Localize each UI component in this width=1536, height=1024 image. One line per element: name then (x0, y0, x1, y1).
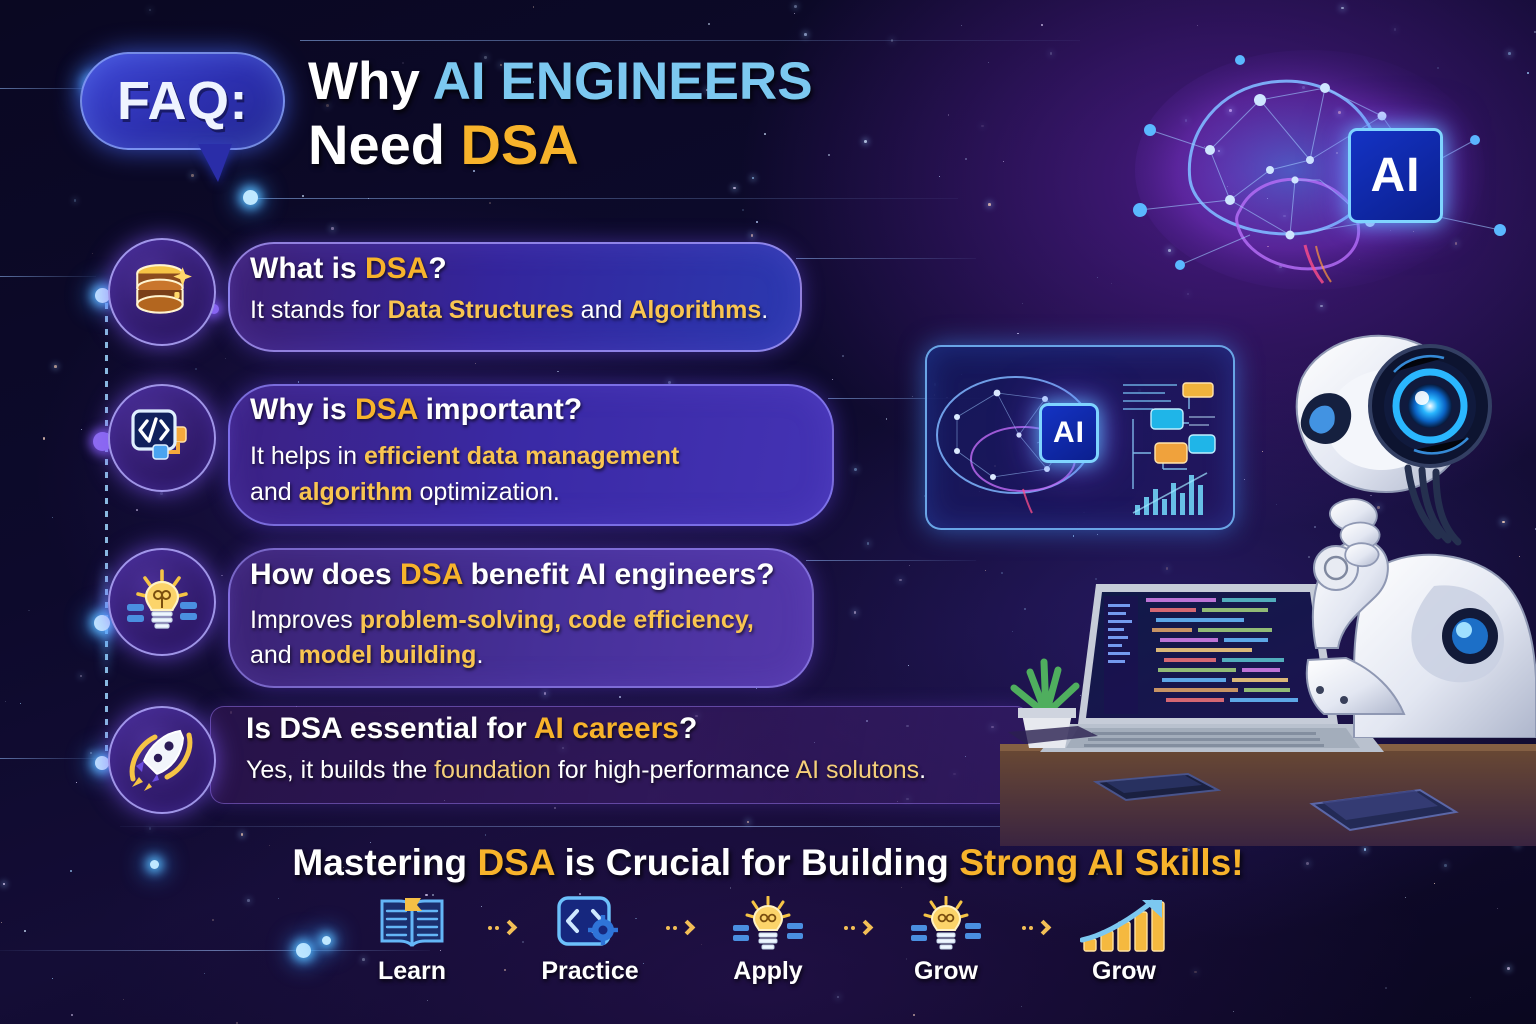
star (149, 827, 151, 829)
lightbulb-icon (731, 896, 805, 954)
text-run: Why (308, 52, 433, 111)
faq-answer-1-line-1: It stands for Data Structures and Algori… (250, 296, 768, 325)
text-run: Improves (250, 606, 360, 634)
star (191, 174, 194, 177)
text-run: optimization. (413, 478, 560, 506)
text-run: . (919, 756, 926, 784)
rocket-icon (108, 706, 216, 814)
text-run: and (574, 296, 630, 324)
text-run: How does (250, 558, 400, 591)
faq-question-3: How does DSA benefit AI engineers? (250, 558, 775, 592)
star (71, 1014, 73, 1016)
text-run: important? (417, 393, 582, 426)
rail-node (95, 756, 109, 770)
faq-badge: FAQ: (80, 52, 285, 150)
text-run: Data Structures (388, 296, 574, 324)
star (28, 610, 30, 612)
star (149, 9, 151, 11)
star (331, 227, 333, 229)
star (1, 922, 2, 923)
footer-node (296, 943, 311, 958)
star (961, 25, 962, 26)
star (730, 887, 732, 889)
open-book-icon (375, 896, 449, 954)
code-brackets-icon (108, 384, 216, 492)
step-label: Grow (1092, 957, 1156, 986)
timeline-rail (105, 290, 108, 770)
star (901, 887, 902, 888)
star (43, 437, 45, 439)
footer-node (322, 936, 331, 945)
connector-line (300, 40, 1080, 41)
text-run: efficient data management (364, 442, 679, 470)
star (747, 821, 750, 824)
star (80, 675, 82, 677)
star (832, 379, 833, 380)
text-run: DSA (477, 842, 554, 883)
star (212, 919, 214, 921)
star (247, 899, 250, 902)
star (1194, 971, 1196, 973)
star (794, 13, 795, 14)
star (533, 6, 534, 7)
step-grow-bulb[interactable]: Grow (890, 896, 1002, 986)
star (54, 365, 57, 368)
text-run: It helps in (250, 442, 364, 470)
step-practice[interactable]: Practice (534, 896, 646, 986)
text-run: benefit AI engineers? (462, 558, 774, 591)
star (76, 782, 77, 783)
star (794, 5, 797, 8)
dotted-arrow-icon (479, 896, 523, 933)
text-run: algorithm (299, 478, 413, 506)
header-node (243, 190, 258, 205)
star (1233, 1011, 1235, 1013)
text-run: Why is (250, 393, 355, 426)
star (241, 833, 244, 836)
star (909, 565, 910, 566)
footer-tagline: Mastering DSA is Crucial for Building St… (0, 842, 1536, 884)
dotted-arrow-icon (835, 896, 879, 933)
star (489, 202, 491, 204)
lightbulb-icon (909, 896, 983, 954)
star (854, 468, 857, 471)
star (123, 999, 124, 1000)
star (988, 203, 991, 206)
star (557, 371, 558, 372)
rail-node (94, 615, 110, 631)
text-run: problem-solving, code efficiency, (360, 606, 754, 634)
text-run: model building (299, 641, 477, 669)
text-run: AI careers (534, 712, 679, 745)
star (81, 429, 82, 430)
database-stack-icon (108, 238, 216, 346)
step-learn[interactable]: Learn (356, 896, 468, 986)
faq-answer-3-line-2: and model building. (250, 641, 483, 670)
neural-brain-illustration: AI (1120, 30, 1536, 330)
text-run: ? (428, 252, 446, 285)
text-run: Need (308, 113, 461, 176)
text-run: What is (250, 252, 365, 285)
star (1385, 987, 1387, 989)
title-line-2: Need DSA (308, 112, 1068, 178)
star (908, 665, 909, 666)
text-run: Is DSA essential for (246, 712, 534, 745)
step-label: Practice (541, 957, 638, 986)
text-run: DSA (355, 393, 417, 426)
faq-question-1: What is DSA? (250, 252, 447, 286)
process-steps: Learn Practice (356, 896, 1180, 1008)
text-run: AI solutons (795, 756, 919, 784)
holographic-dashboard: AI (925, 345, 1235, 530)
connector-line (0, 758, 98, 759)
text-run: and (250, 478, 299, 506)
star (225, 358, 226, 359)
title-line-1: Why AI ENGINEERS (308, 52, 1068, 112)
star (5, 701, 6, 702)
dotted-arrow-icon (657, 896, 701, 933)
star (20, 703, 21, 704)
text-run: It stands for (250, 296, 388, 324)
text-run: Strong AI Skills! (959, 842, 1243, 883)
faq-badge-label: FAQ: (117, 70, 248, 132)
star (913, 1014, 915, 1016)
text-run: AI ENGINEERS (433, 52, 813, 111)
star (619, 696, 621, 698)
star (221, 575, 223, 577)
star (302, 195, 304, 197)
lightbulb-icon (108, 548, 216, 656)
dotted-arrow-icon (1013, 896, 1057, 933)
star (92, 253, 93, 254)
star (899, 579, 902, 582)
star (1497, 908, 1498, 909)
star (867, 542, 870, 545)
star (1022, 303, 1023, 304)
star (854, 611, 856, 613)
star (1341, 7, 1344, 10)
text-run: for high-performance (551, 756, 796, 784)
page-title: Why AI ENGINEERS Need DSA (308, 52, 1068, 178)
step-apply[interactable]: Apply (712, 896, 824, 986)
star (1197, 25, 1198, 26)
connector-line (258, 198, 958, 199)
star (475, 363, 476, 364)
star (733, 187, 735, 189)
faq-question-4: Is DSA essential for AI careers? (246, 712, 697, 746)
text-run: ? (679, 712, 697, 745)
star (985, 570, 986, 571)
faq-question-2: Why is DSA important? (250, 393, 582, 427)
star (90, 752, 92, 754)
text-run: is Crucial for Building (554, 842, 959, 883)
text-run: foundation (434, 756, 551, 784)
humanoid-robot (1258, 318, 1536, 738)
star (52, 978, 53, 979)
star (74, 199, 76, 201)
star (1041, 24, 1043, 26)
step-grow-chart[interactable]: Grow (1068, 896, 1180, 986)
text-run: . (761, 296, 768, 324)
ai-chip-badge: AI (1039, 403, 1099, 463)
connector-line (0, 276, 96, 277)
star (579, 893, 581, 895)
star (544, 692, 546, 694)
star (886, 418, 888, 420)
ai-chip-label: AI (1371, 148, 1421, 203)
faq-answer-2-line-1: It helps in efficient data management (250, 442, 679, 471)
star (1111, 283, 1112, 284)
star (1244, 479, 1245, 480)
step-label: Learn (378, 957, 446, 986)
faq-answer-2-line-2: and algorithm optimization. (250, 478, 560, 507)
star (842, 355, 844, 357)
star (756, 221, 758, 223)
faq-answer-3-line-1: Improves problem-solving, code efficienc… (250, 606, 754, 635)
star (1097, 277, 1098, 278)
text-run: Algorithms (629, 296, 761, 324)
star (278, 898, 279, 899)
star (298, 381, 299, 382)
star (554, 807, 556, 809)
growth-chart-icon (1080, 896, 1168, 954)
star (756, 688, 757, 689)
star (485, 834, 486, 835)
text-run: and (250, 641, 299, 669)
star (742, 209, 744, 211)
code-gear-icon (553, 896, 627, 954)
step-label: Grow (914, 957, 978, 986)
ai-chip-label: AI (1053, 416, 1085, 450)
star (708, 23, 710, 25)
connector-line (796, 258, 976, 259)
faq-answer-4-line-1: Yes, it builds the foundation for high-p… (246, 756, 926, 785)
star (1017, 333, 1018, 334)
infographic-canvas: FAQ: Why AI ENGINEERS Need DSA What is D… (0, 0, 1536, 1024)
text-run: DSA (365, 252, 428, 285)
star (1097, 534, 1098, 535)
star (24, 930, 26, 932)
star (204, 973, 205, 974)
star (1470, 997, 1471, 998)
connector-line (806, 560, 976, 561)
star (1507, 967, 1510, 970)
star (1405, 897, 1406, 898)
star (1073, 535, 1075, 537)
step-label: Apply (733, 957, 802, 986)
star (195, 368, 197, 370)
text-run: DSA (400, 558, 462, 591)
star (236, 1022, 238, 1024)
text-run: Mastering (292, 842, 477, 883)
text-run: DSA (461, 113, 579, 176)
star (136, 509, 138, 511)
star (52, 517, 53, 518)
ai-chip-badge: AI (1348, 128, 1443, 223)
star (751, 234, 753, 236)
star (912, 396, 913, 397)
star (804, 33, 807, 36)
star (160, 492, 163, 495)
text-run: . (476, 641, 483, 669)
text-run: Yes, it builds the (246, 756, 434, 784)
